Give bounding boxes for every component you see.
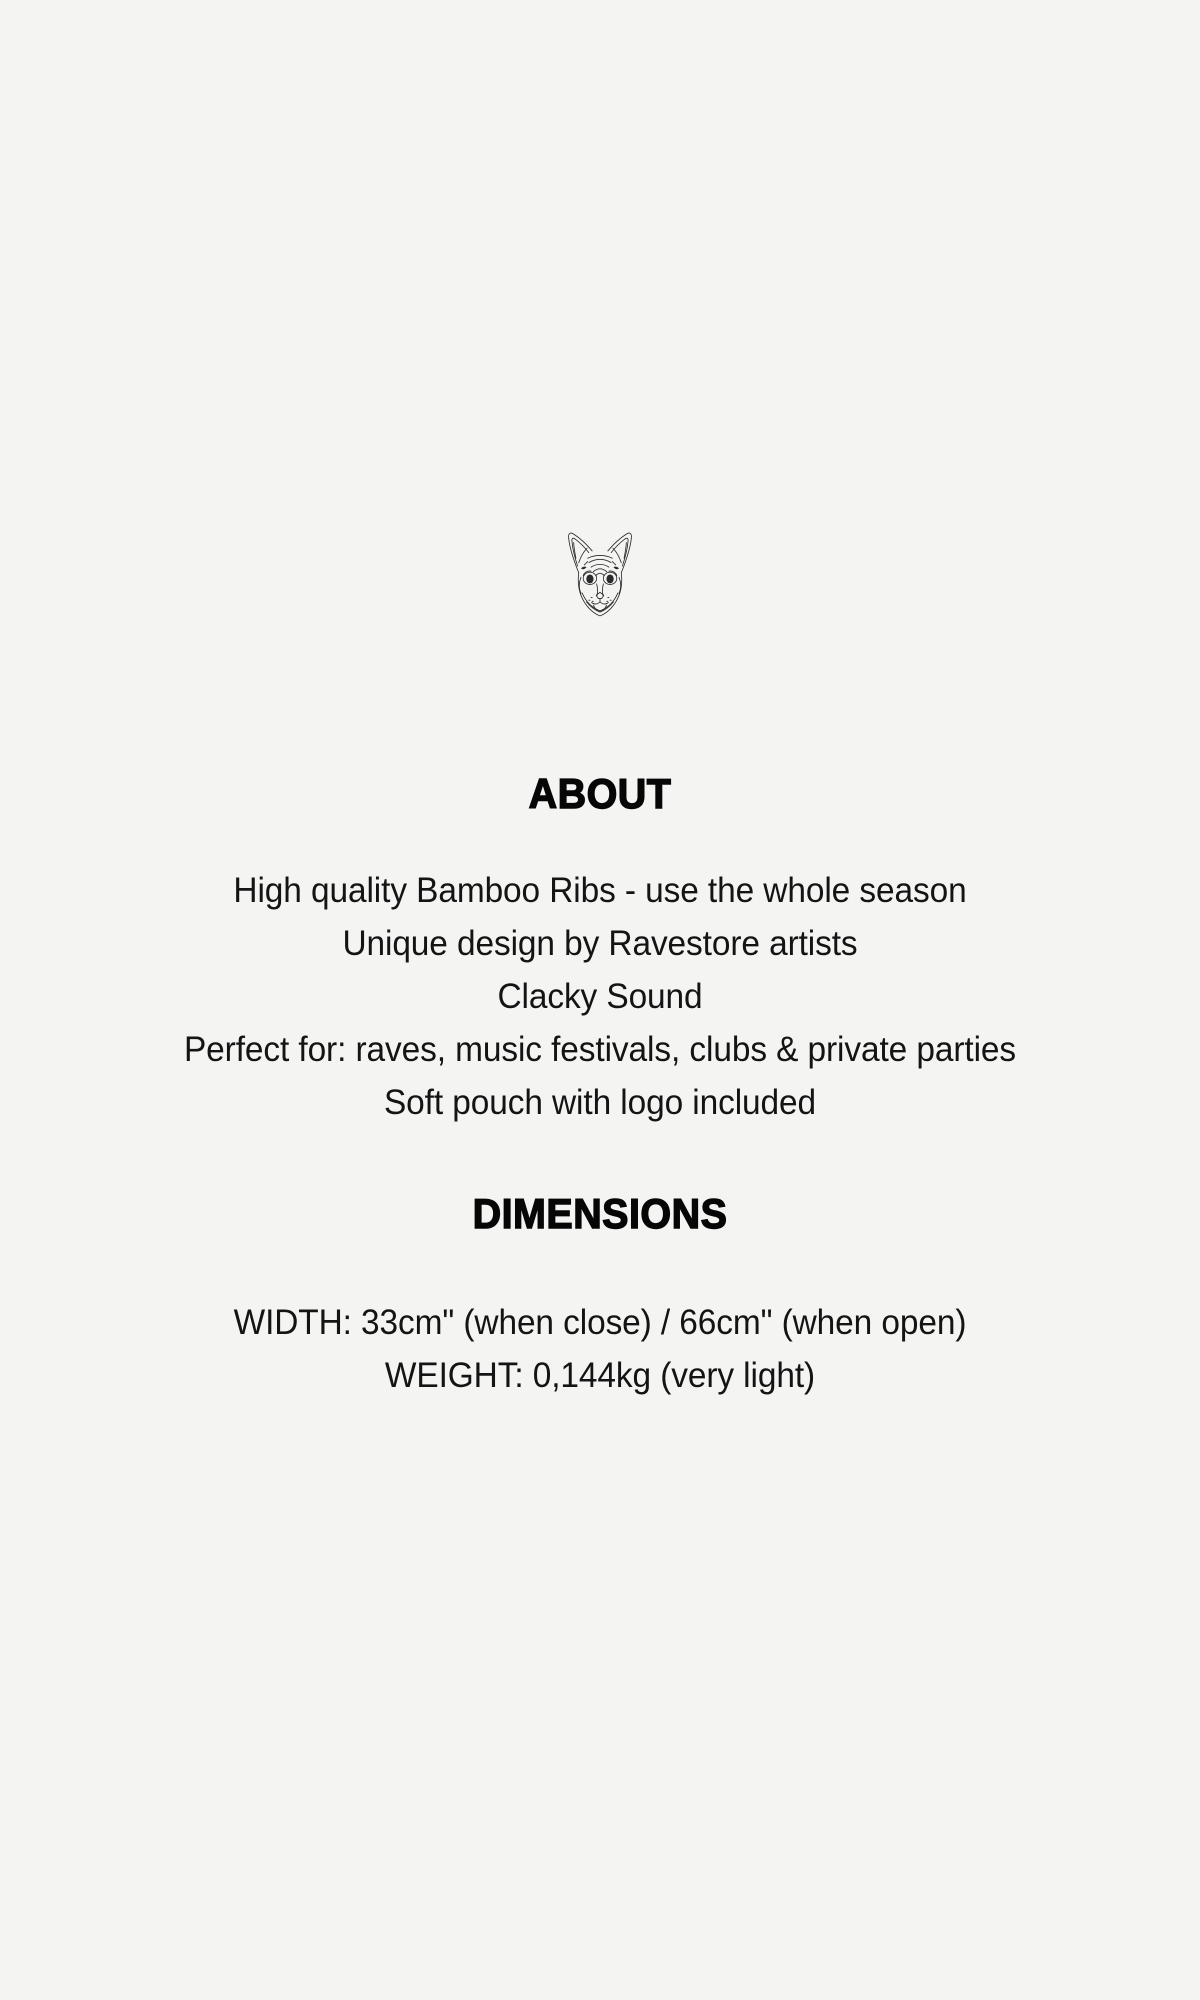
about-line-3: Clacky Sound — [27, 970, 1173, 1023]
about-heading: ABOUT — [36, 770, 1164, 818]
about-line-1: High quality Bamboo Ribs - use the whole… — [27, 864, 1173, 917]
about-line-2: Unique design by Ravestore artists — [27, 917, 1173, 970]
dimensions-width-line: WIDTH: 33cm" (when close) / 66cm" (when … — [27, 1296, 1173, 1349]
about-line-5: Soft pouch with logo included — [27, 1076, 1173, 1129]
dimensions-weight-line: WEIGHT: 0,144kg (very light) — [27, 1349, 1173, 1402]
product-info-page: ABOUT High quality Bamboo Ribs - use the… — [0, 0, 1200, 2000]
sphynx-cat-head-icon — [544, 519, 656, 631]
dimensions-heading: DIMENSIONS — [36, 1190, 1164, 1238]
dimensions-body: WIDTH: 33cm" (when close) / 66cm" (when … — [27, 1296, 1173, 1402]
about-line-4: Perfect for: raves, music festivals, clu… — [27, 1023, 1173, 1076]
brand-logo — [540, 515, 660, 635]
about-body: High quality Bamboo Ribs - use the whole… — [27, 864, 1173, 1129]
